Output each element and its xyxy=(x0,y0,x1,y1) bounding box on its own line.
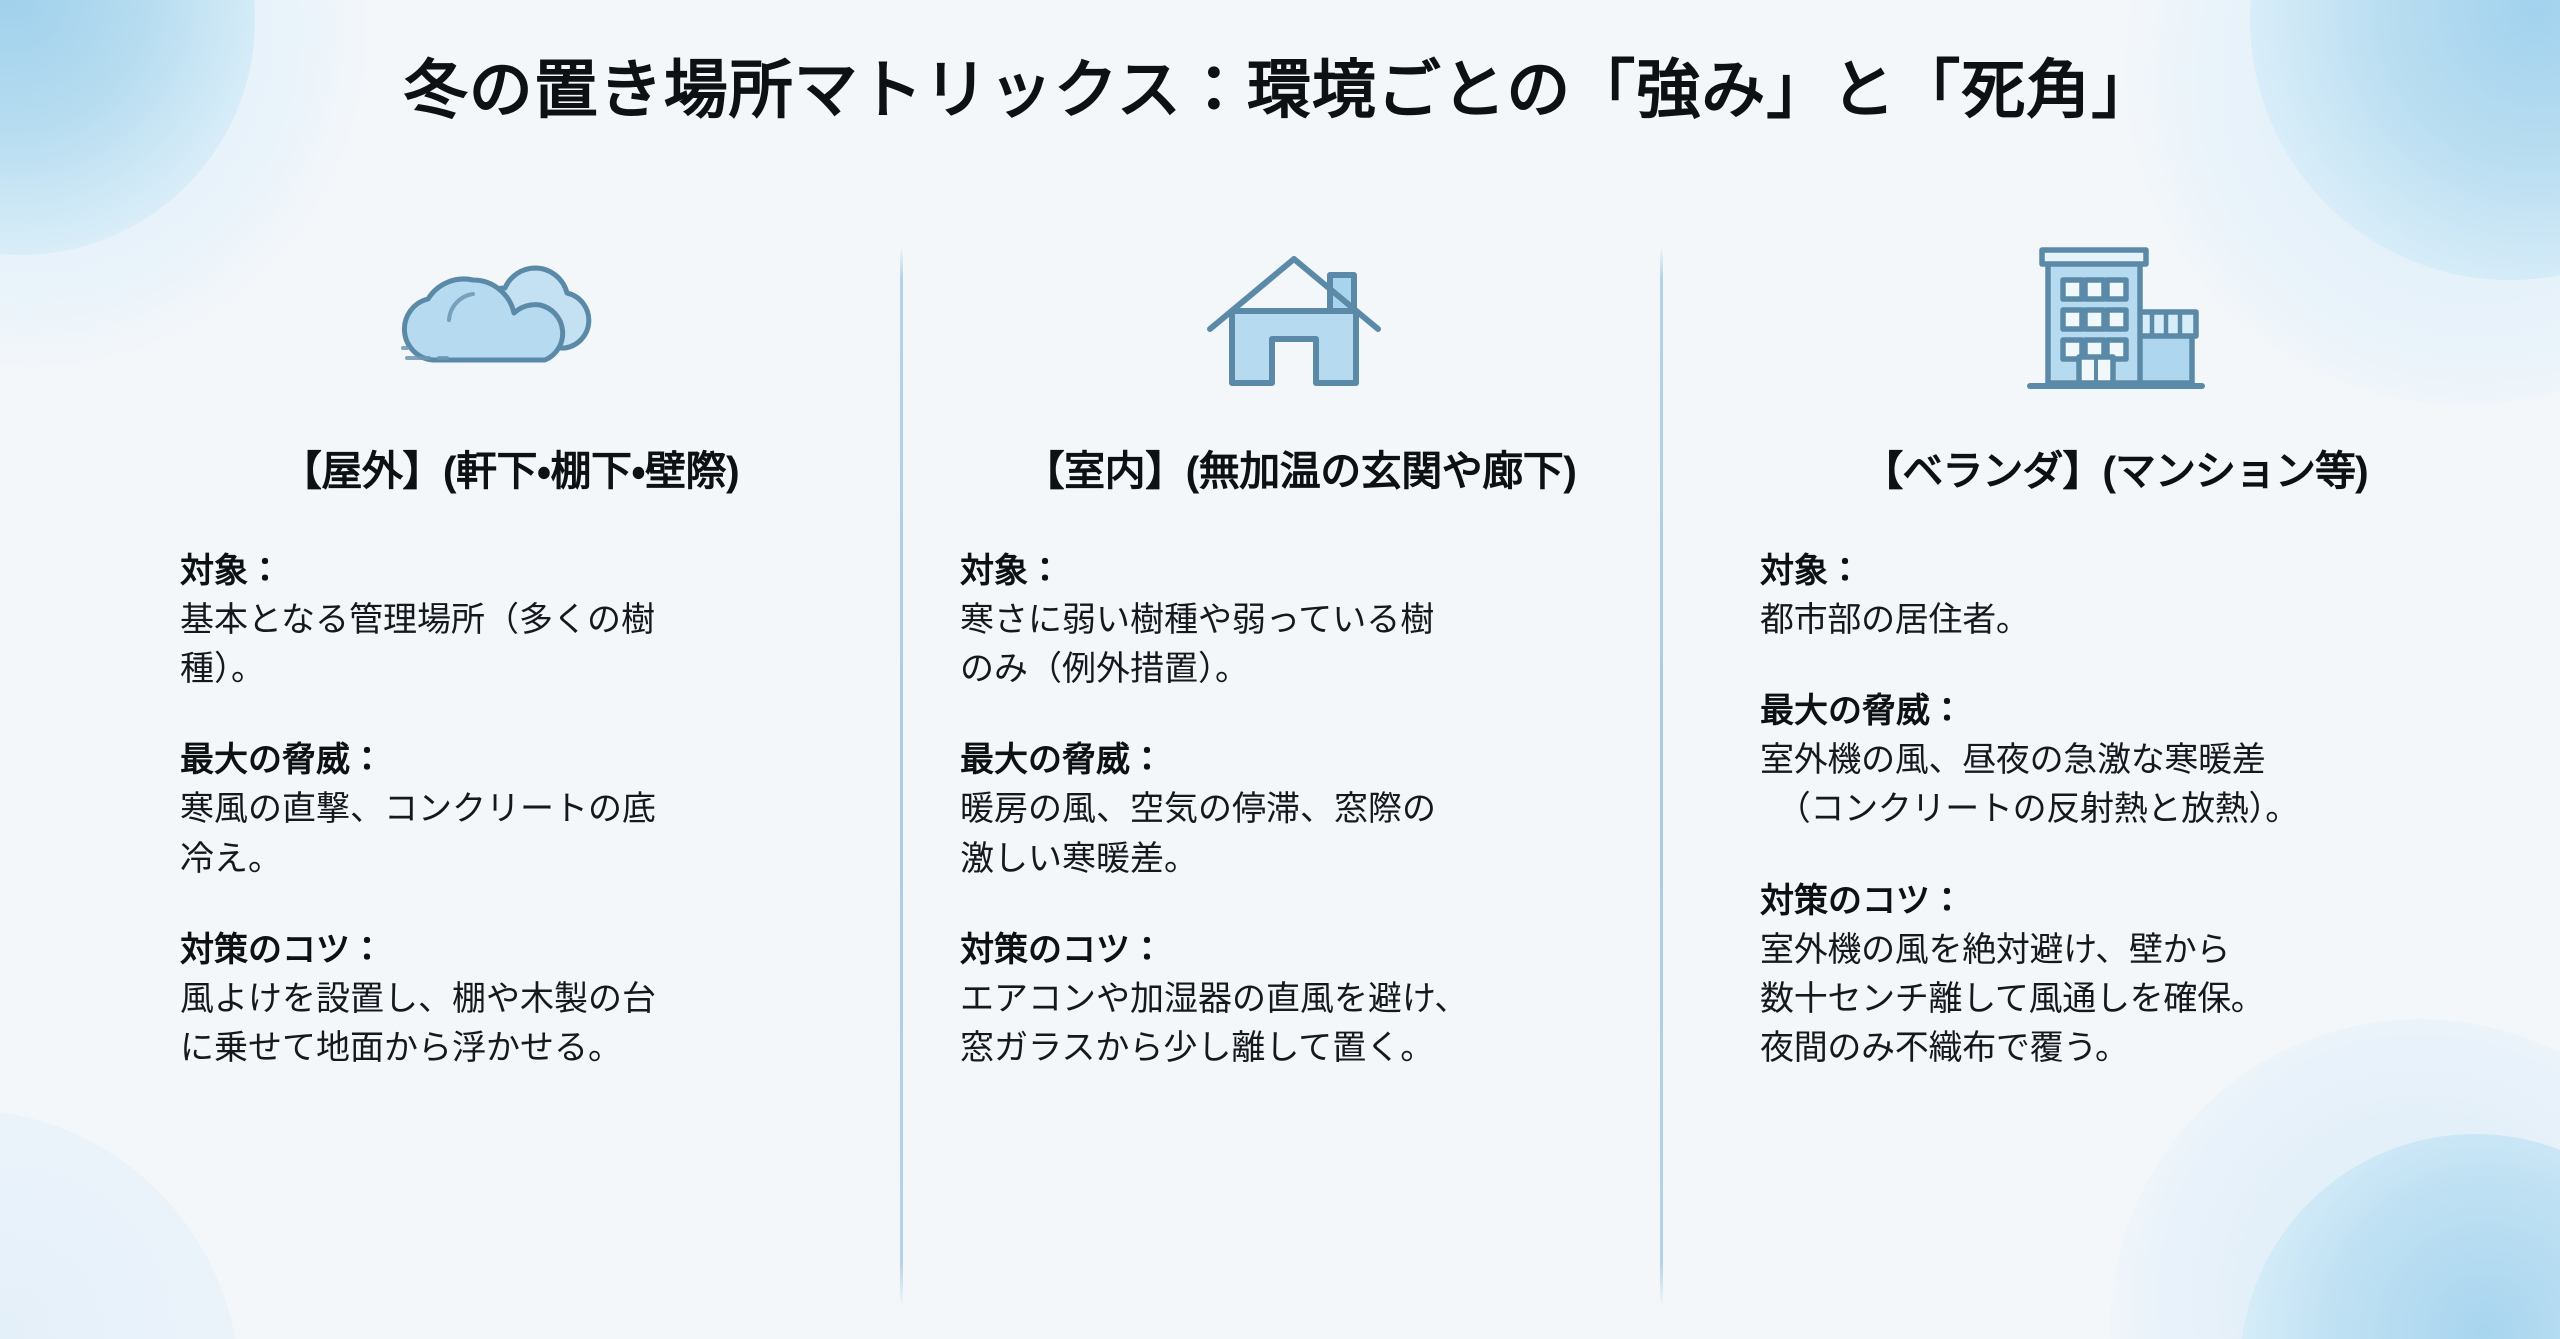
block-label: 最大の脅威： xyxy=(960,738,1640,783)
block-body: 室外機の風を絶対避け、壁から 数十センチ離して風通しを確保。 夜間のみ不織布で覆… xyxy=(1760,926,2470,1074)
info-block: 対策のコツ： エアコンや加湿器の直風を避け、 窓ガラスから少し離して置く。 xyxy=(960,928,1640,1073)
info-block: 対策のコツ： 室外機の風を絶対避け、壁から 数十センチ離して風通しを確保。 夜間… xyxy=(1760,879,2470,1074)
building-icon xyxy=(1760,230,2470,405)
column-heading-indoor: 【室内】(無加温の玄関や廊下) xyxy=(960,437,1640,497)
block-body: 風よけを設置し、棚や木製の台 に乗せて地面から浮かせる。 xyxy=(180,975,840,1074)
block-body: 基本となる管理場所（多くの樹 種）。 xyxy=(180,596,840,695)
info-block: 対象： 寒さに弱い樹種や弱っている樹 のみ（例外措置）。 xyxy=(960,549,1640,694)
block-body: 室外機の風、昼夜の急激な寒暖差 （コンクリートの反射熱と放熱）。 xyxy=(1760,736,2470,835)
block-body: 都市部の居住者。 xyxy=(1760,596,2470,645)
info-block: 対象： 都市部の居住者。 xyxy=(1760,549,2470,645)
block-label: 対象： xyxy=(1760,549,2470,594)
block-label: 最大の脅威： xyxy=(180,738,840,783)
page-title: 冬の置き場所マトリックス：環境ごとの「強み」と「死角」 xyxy=(0,52,2560,129)
block-label: 対象： xyxy=(180,549,840,594)
info-block: 最大の脅威： 暖房の風、空気の停滞、窓際の 激しい寒暖差。 xyxy=(960,738,1640,883)
info-block: 最大の脅威： 室外機の風、昼夜の急激な寒暖差 （コンクリートの反射熱と放熱）。 xyxy=(1760,689,2470,834)
info-block: 最大の脅威： 寒風の直撃、コンクリートの底 冷え。 xyxy=(180,738,840,883)
column-blocks-indoor: 対象： 寒さに弱い樹種や弱っている樹 のみ（例外措置）。 最大の脅威： 暖房の風… xyxy=(960,549,1640,1073)
cloud-icon xyxy=(180,230,840,405)
block-body: 寒さに弱い樹種や弱っている樹 のみ（例外措置）。 xyxy=(960,596,1640,695)
column-heading-outdoor: 【屋外】(軒下・棚下・壁際) xyxy=(180,437,840,497)
column-heading-balcony: 【ベランダ】(マンション等) xyxy=(1760,437,2470,497)
block-label: 対策のコツ： xyxy=(180,928,840,973)
house-icon xyxy=(960,230,1640,405)
column-blocks-outdoor: 対象： 基本となる管理場所（多くの樹 種）。 最大の脅威： 寒風の直撃、コンクリ… xyxy=(180,549,840,1073)
block-label: 対象： xyxy=(960,549,1640,594)
matrix-column-indoor: 【室内】(無加温の玄関や廊下) 対象： 寒さに弱い樹種や弱っている樹 のみ（例外… xyxy=(900,230,1700,1073)
column-blocks-balcony: 対象： 都市部の居住者。 最大の脅威： 室外機の風、昼夜の急激な寒暖差 （コンク… xyxy=(1760,549,2470,1073)
matrix-column-balcony: 【ベランダ】(マンション等) 対象： 都市部の居住者。 最大の脅威： 室外機の風… xyxy=(1700,230,2500,1073)
matrix-column-outdoor: 【屋外】(軒下・棚下・壁際) 対象： 基本となる管理場所（多くの樹 種）。 最大… xyxy=(100,230,900,1073)
block-label: 対策のコツ： xyxy=(960,928,1640,973)
infographic-slide: 冬の置き場所マトリックス：環境ごとの「強み」と「死角」 xyxy=(0,0,2560,1339)
info-block: 対象： 基本となる管理場所（多くの樹 種）。 xyxy=(180,549,840,694)
comparison-matrix: 【屋外】(軒下・棚下・壁際) 対象： 基本となる管理場所（多くの樹 種）。 最大… xyxy=(100,230,2500,1310)
block-body: 暖房の風、空気の停滞、窓際の 激しい寒暖差。 xyxy=(960,785,1640,884)
block-body: エアコンや加湿器の直風を避け、 窓ガラスから少し離して置く。 xyxy=(960,975,1640,1074)
block-label: 対策のコツ： xyxy=(1760,879,2470,924)
info-block: 対策のコツ： 風よけを設置し、棚や木製の台 に乗せて地面から浮かせる。 xyxy=(180,928,840,1073)
block-label: 最大の脅威： xyxy=(1760,689,2470,734)
block-body: 寒風の直撃、コンクリートの底 冷え。 xyxy=(180,785,840,884)
